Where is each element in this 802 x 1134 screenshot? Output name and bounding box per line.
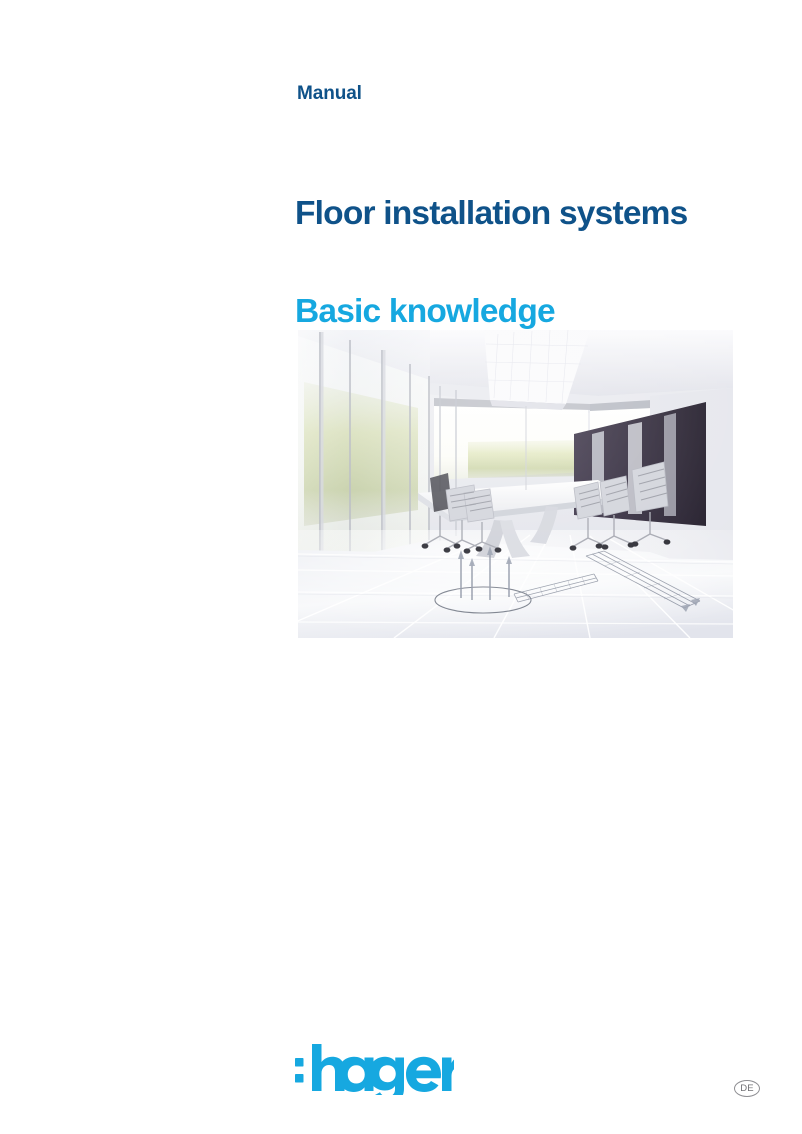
hager-wordmark-icon <box>294 1043 454 1095</box>
page-title: Floor installation systems <box>295 197 687 231</box>
office-render-illustration <box>298 330 733 638</box>
cover-photo <box>298 330 733 638</box>
language-badge: DE <box>734 1080 760 1097</box>
hager-logo <box>294 1043 454 1095</box>
cover-page: Manual Floor installation systems Basic … <box>0 0 802 1134</box>
page-subtitle: Basic knowledge <box>295 295 555 329</box>
document-type-kicker: Manual <box>297 84 362 103</box>
